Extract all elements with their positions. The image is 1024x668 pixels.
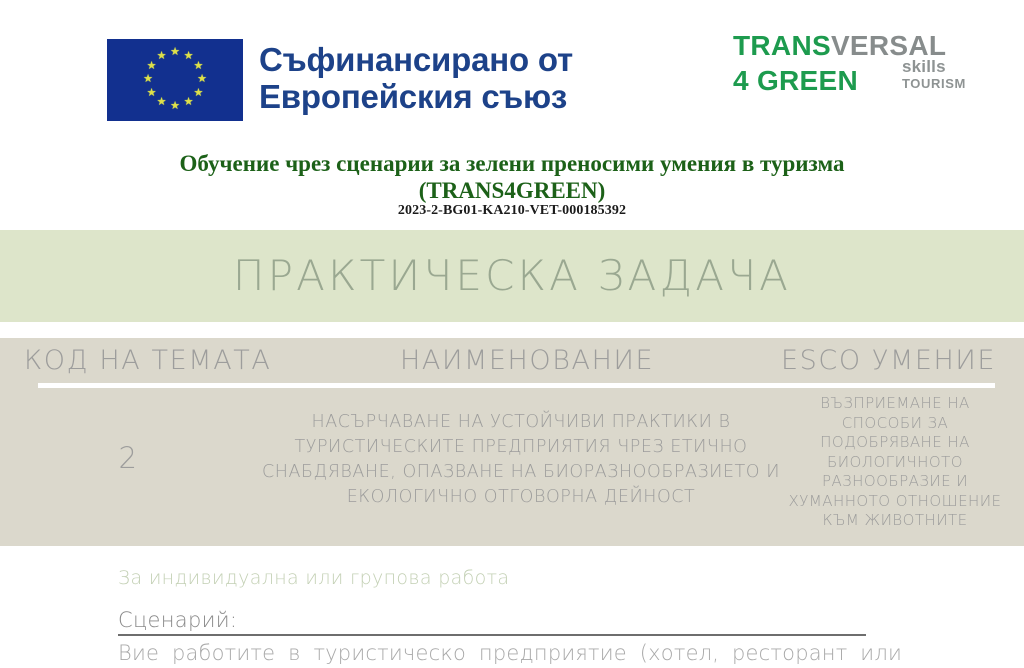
- table-cell-code: 2: [24, 442, 232, 474]
- project-title-line2: (TRANS4GREEN): [0, 177, 1024, 204]
- trans4green-logo-subtext: skills TOURISM: [902, 58, 966, 91]
- column-header-esco: ESCO УМЕНИЕ: [781, 344, 996, 377]
- column-header-name: НАИМЕНОВАНИЕ: [400, 344, 654, 377]
- eu-logo-line1: Съфинансирано от: [259, 41, 573, 78]
- eu-cofunded-logo: ★★★★★★★★★★★★ Съфинансирано от Европейски…: [107, 39, 573, 121]
- project-title-line1: Обучение чрез сценарии за зелени преноси…: [0, 150, 1024, 177]
- logo-trans-text: TRANS: [733, 30, 831, 61]
- logo-tourism-text: TOURISM: [902, 76, 966, 91]
- project-title: Обучение чрез сценарии за зелени преноси…: [0, 150, 1024, 204]
- topic-table: КОД НА ТЕМАТА НАИМЕНОВАНИЕ ESCO УМЕНИЕ 2…: [0, 338, 1024, 546]
- column-header-code: КОД НА ТЕМАТА: [24, 344, 271, 377]
- table-cell-name: НАСЪРЧАВАНЕ НА УСТОЙЧИВИ ПРАКТИКИ В ТУРИ…: [262, 410, 780, 510]
- header-logo-strip: ★★★★★★★★★★★★ Съфинансирано от Европейски…: [0, 0, 1024, 140]
- banner-title: ПРАКТИЧЕСКА ЗАДАЧА: [0, 252, 1024, 300]
- table-header-row: КОД НА ТЕМАТА НАИМЕНОВАНИЕ ESCO УМЕНИЕ: [0, 344, 1024, 384]
- trans4green-logo: TRANSVERSAL 4 GREEN skills TOURISM: [733, 32, 946, 95]
- logo-4green-text: 4 GREEN: [733, 67, 858, 95]
- trans4green-logo-line1: TRANSVERSAL: [733, 32, 946, 60]
- scenario-section: За индивидуална или групова работа Сцена…: [0, 546, 1024, 666]
- table-header-divider: [38, 383, 995, 388]
- eu-logo-line2: Европейския съюз: [259, 78, 573, 115]
- eu-flag-icon: ★★★★★★★★★★★★: [107, 39, 243, 121]
- logo-skills-text: skills: [902, 58, 966, 75]
- scenario-body-text: Вие работите в туристическо предприятие …: [118, 638, 902, 668]
- table-cell-esco: ВЪЗПРИЕМАНЕ НА СПОСОБИ ЗА ПОДОБРЯВАНЕ НА…: [781, 394, 1009, 531]
- practical-task-banner: ПРАКТИЧЕСКА ЗАДАЧА: [0, 230, 1024, 322]
- scenario-label-underline: Сценарий:: [118, 608, 866, 636]
- eu-logo-text: Съфинансирано от Европейския съюз: [259, 41, 573, 115]
- project-code: 2023-2-BG01-KA210-VET-000185392: [0, 203, 1024, 219]
- scenario-label: Сценарий:: [118, 608, 237, 632]
- work-mode-label: За индивидуална или групова работа: [118, 566, 509, 590]
